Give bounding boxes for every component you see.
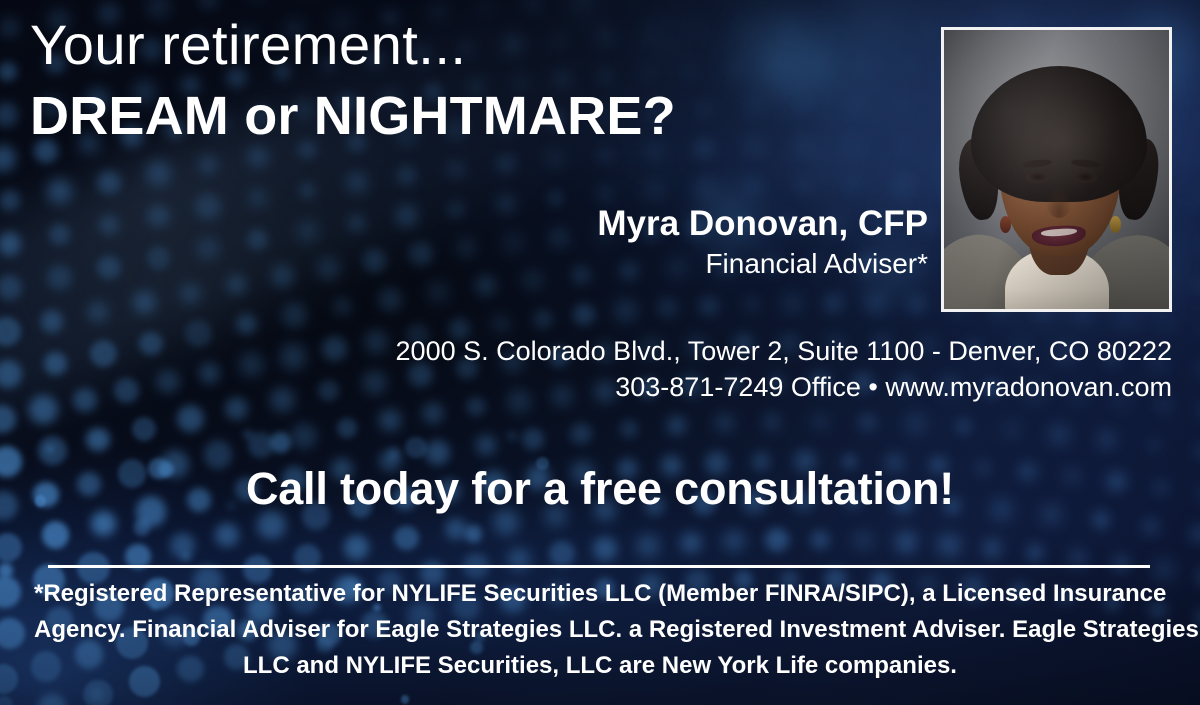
contact-phone-website[interactable]: 303-871-7249 Office • www.myradonovan.co… (396, 370, 1172, 406)
headline-line-1: Your retirement... (30, 17, 466, 73)
adviser-portrait-frame (941, 27, 1172, 312)
disclaimer-line-3: LLC and NYLIFE Securities, LLC are New Y… (34, 648, 1166, 684)
portrait-hair-top (971, 66, 1147, 202)
call-to-action: Call today for a free consultation! (0, 463, 1200, 515)
adviser-title: Financial Adviser* (597, 247, 928, 281)
disclaimer-line-2: Agency. Financial Adviser for Eagle Stra… (34, 612, 1166, 648)
headline-line-2: DREAM or NIGHTMARE? (30, 89, 676, 143)
adviser-portrait-photo (944, 30, 1169, 309)
portrait-eye-right (1074, 172, 1097, 183)
horizontal-divider (48, 565, 1150, 568)
ad-content: Your retirement... DREAM or NIGHTMARE? M… (0, 0, 1200, 705)
adviser-info: Myra Donovan, CFP Financial Adviser* (597, 206, 928, 280)
contact-address: 2000 S. Colorado Blvd., Tower 2, Suite 1… (396, 334, 1172, 370)
advertisement-banner: Your retirement... DREAM or NIGHTMARE? M… (0, 0, 1200, 705)
portrait-eye-left (1026, 172, 1049, 183)
portrait-earring-left (1000, 216, 1011, 233)
contact-info: 2000 S. Colorado Blvd., Tower 2, Suite 1… (396, 334, 1172, 405)
portrait-earring-right (1110, 216, 1121, 233)
disclaimer-text: *Registered Representative for NYLIFE Se… (34, 576, 1166, 683)
disclaimer-line-1: *Registered Representative for NYLIFE Se… (34, 576, 1166, 612)
adviser-name: Myra Donovan, CFP (597, 206, 928, 243)
portrait-nose (1046, 186, 1072, 218)
